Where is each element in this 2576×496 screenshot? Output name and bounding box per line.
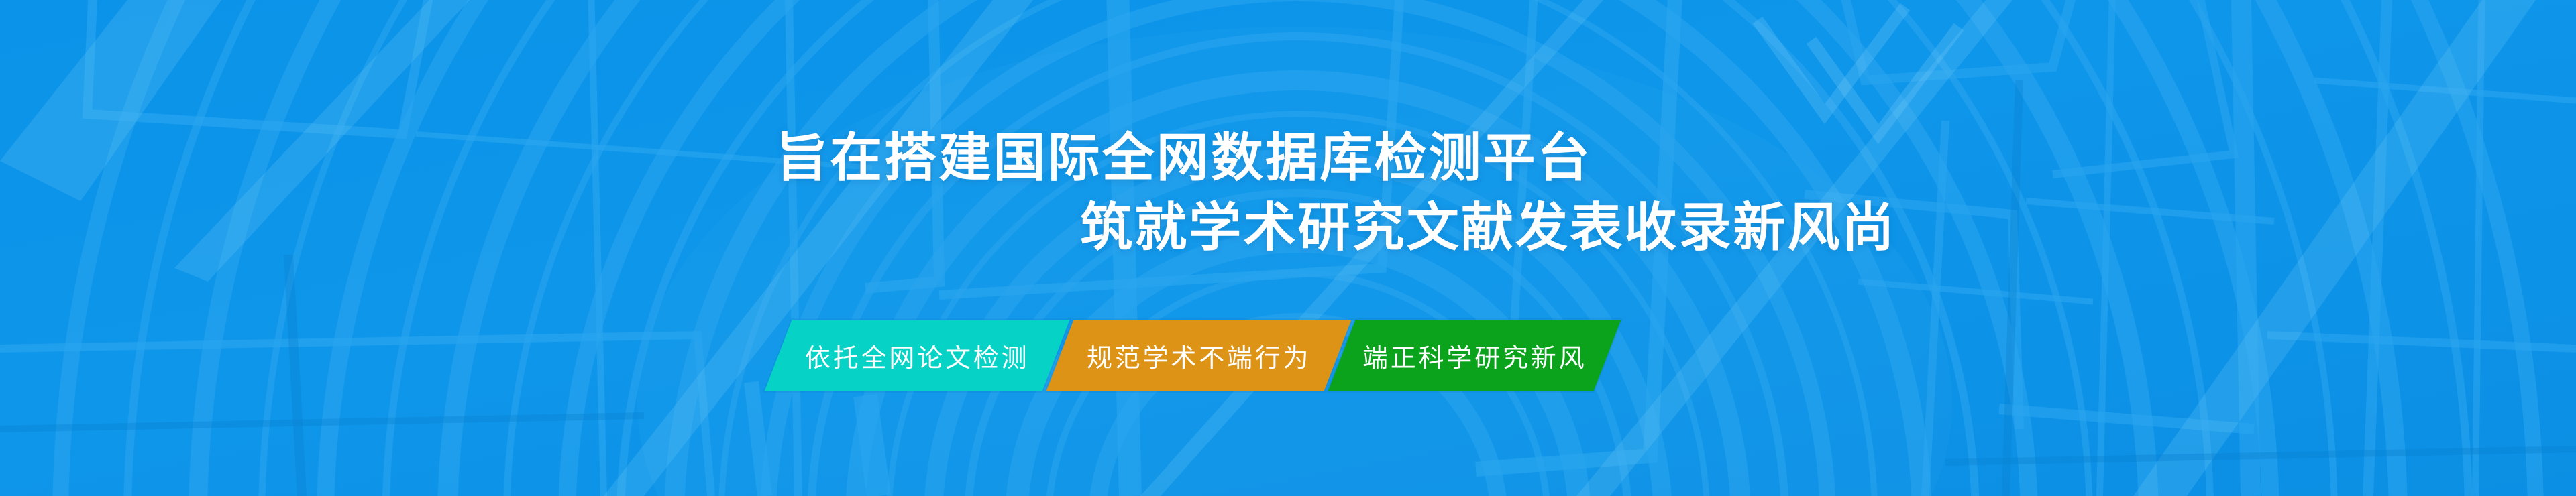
feature-badge-research-ethos[interactable]: 端正科学研究新风 xyxy=(1328,320,1621,391)
promo-banner: 旨在搭建国际全网数据库检测平台 筑就学术研究文献发表收录新风尚 依托全网论文检测… xyxy=(0,0,2576,496)
feature-badge-academic-misconduct-label: 规范学术不端行为 xyxy=(1057,337,1340,374)
feature-badge-strip: 依托全网论文检测 规范学术不端行为 端正科学研究新风 xyxy=(778,320,1607,391)
headline-group: 旨在搭建国际全网数据库检测平台 筑就学术研究文献发表收录新风尚 xyxy=(0,0,2576,496)
headline-secondary: 筑就学术研究文献发表收录新风尚 xyxy=(1080,201,1896,253)
feature-badge-academic-misconduct[interactable]: 规范学术不端行为 xyxy=(1046,320,1351,391)
headline-primary: 旨在搭建国际全网数据库检测平台 xyxy=(775,131,1592,184)
feature-badge-paper-detection[interactable]: 依托全网论文检测 xyxy=(764,320,1069,391)
feature-badge-research-ethos-label: 端正科学研究新风 xyxy=(1333,337,1616,374)
feature-badge-paper-detection-label: 依托全网论文检测 xyxy=(775,337,1059,374)
